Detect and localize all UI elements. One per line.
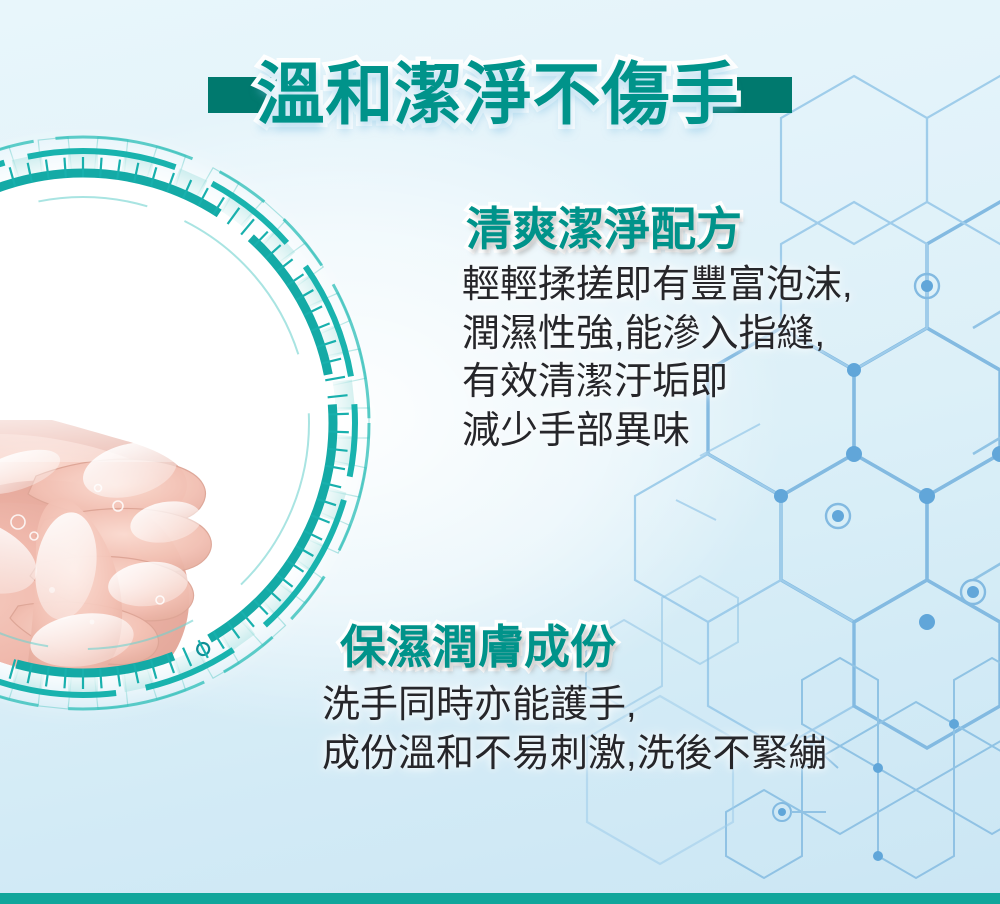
section-heading-cleansing: 清爽潔淨配方	[466, 206, 853, 254]
body-line: 洗手同時亦能護手,	[322, 682, 827, 729]
bottom-accent-bar	[0, 893, 1000, 904]
banner-block-right	[704, 77, 792, 113]
body-line: 潤濕性強,能滲入指縫,	[462, 311, 853, 358]
product-feature-poster: 溫和潔淨不傷手 清爽潔淨配方 輕輕揉搓即有豐富泡沫, 潤濕性強,能滲入指縫, 有…	[0, 0, 1000, 904]
body-line: 成份溫和不易刺激,洗後不緊繃	[322, 731, 827, 778]
soapy-hands-photo	[0, 170, 336, 676]
poster-title-banner: 溫和潔淨不傷手	[0, 52, 1000, 138]
section-body-cleansing: 輕輕揉搓即有豐富泡沫, 潤濕性強,能滲入指縫, 有效清潔汙垢即 減少手部異味	[462, 262, 853, 455]
banner-block-left	[208, 77, 296, 113]
feature-section-cleansing: 清爽潔淨配方 輕輕揉搓即有豐富泡沫, 潤濕性強,能滲入指縫, 有效清潔汙垢即 減…	[462, 206, 853, 455]
section-body-moisturising: 洗手同時亦能護手, 成份溫和不易刺激,洗後不緊繃	[322, 682, 827, 777]
body-line: 輕輕揉搓即有豐富泡沫,	[462, 262, 853, 309]
body-line: 減少手部異味	[462, 408, 853, 455]
page-title: 溫和潔淨不傷手	[256, 61, 739, 129]
body-line: 有效清潔汙垢即	[462, 359, 853, 406]
photo-white-disc	[0, 170, 336, 676]
hands-washing-illustration-icon	[0, 170, 336, 676]
section-heading-moisturising: 保濕潤膚成份	[340, 624, 827, 672]
feature-section-moisturising: 保濕潤膚成份 洗手同時亦能護手, 成份溫和不易刺激,洗後不緊繃	[322, 624, 827, 777]
